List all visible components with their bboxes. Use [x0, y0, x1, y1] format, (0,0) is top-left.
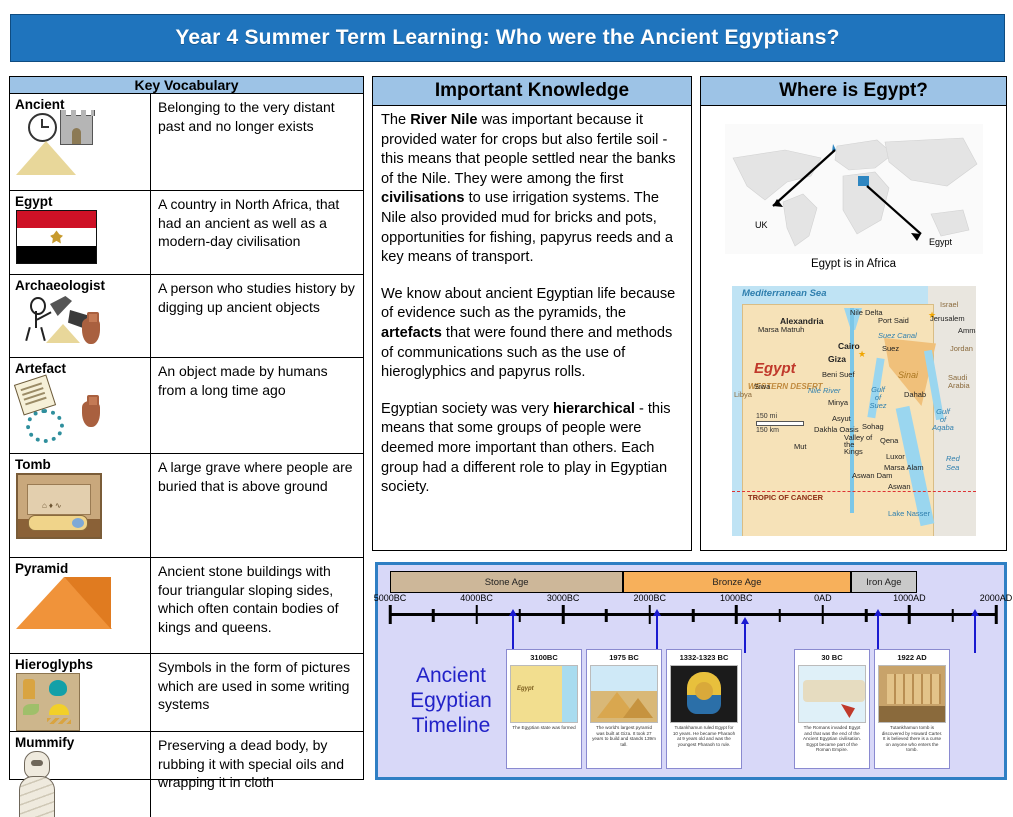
timeline-event-card: 1975 BCThe world's largest pyramid was b…	[586, 649, 662, 769]
timeline-axis-label: 1000AD	[893, 593, 926, 603]
map-label-mediterranean-sea: Mediterranean Sea	[742, 288, 826, 299]
knowledge-key-term: River Nile	[410, 112, 477, 128]
vocabulary-definition-cell: A large grave where people are buried th…	[151, 454, 363, 557]
vocabulary-definition-cell: Preserving a dead body, by rubbing it wi…	[151, 732, 363, 817]
scroll-pot-necklace-icon	[16, 377, 111, 437]
page-banner: Year 4 Summer Term Learning: Who were th…	[10, 14, 1005, 62]
roman-empire-map-image	[798, 665, 866, 723]
tutankhamun-mask-image	[670, 665, 738, 723]
map-label-valley-of-the-kings: Valley of the Kings	[844, 434, 874, 455]
knowledge-key-term: hierarchical	[553, 401, 635, 417]
vocabulary-term-label: Mummify	[15, 735, 150, 750]
timeline-event-card: 30 BCThe Romans invaded Egypt and that w…	[794, 649, 870, 769]
timeline-axis-label: 4000BC	[460, 593, 493, 603]
world-map-label-egypt: Egypt	[929, 237, 952, 247]
knowledge-paragraph: We know about ancient Egyptian life beca…	[381, 285, 684, 383]
map-label-egypt: Egypt	[754, 360, 796, 377]
egypt-flag-icon	[16, 210, 97, 264]
timeline-event-caption: The world's largest pyramid was built at…	[590, 725, 658, 747]
where-header: Where is Egypt?	[700, 76, 1007, 106]
knowledge-text: The	[381, 112, 410, 128]
map-city-qena: Qena	[880, 436, 898, 445]
map-scale-miles: 150 mi	[756, 413, 777, 420]
timeline-axis-label: 2000AD	[980, 593, 1013, 603]
giza-pyramids-image	[590, 665, 658, 723]
knowledge-text: We know about ancient Egyptian life beca…	[381, 286, 675, 322]
timeline-event-caption: Tutankhamun ruled Egypt for 10 years. He…	[670, 725, 738, 747]
timeline-event-card: 1332-1323 BCTutankhamun ruled Egypt for …	[666, 649, 742, 769]
map-country-saudi-arabia: Saudi Arabia	[948, 374, 976, 390]
timeline-title: Ancient Egyptian Timeline	[396, 663, 506, 738]
vocabulary-row: PyramidAncient stone buildings with four…	[10, 558, 363, 654]
vocabulary-term-label: Artefact	[15, 361, 150, 376]
map-city-sohag: Sohag	[862, 422, 884, 431]
timeline-axis-label: 2000BC	[633, 593, 666, 603]
knowledge-paragraph: The River Nile was important because it …	[381, 111, 684, 268]
timeline-event-date: 3100BC	[510, 653, 578, 662]
timeline-event-date: 30 BC	[798, 653, 866, 662]
map-country-israel: Israel	[940, 300, 958, 309]
vocabulary-term-cell: Ancient	[10, 94, 151, 190]
timeline-panel: Stone AgeBronze AgeIron Age 5000BC4000BC…	[375, 562, 1007, 780]
map-city-luxor: Luxor	[886, 452, 905, 461]
timeline-event-caption: Tutankhamun tomb is discovered by Howard…	[878, 725, 946, 753]
timeline-event-caption: The Egyptian state was formed	[510, 725, 578, 731]
map-scale-rule	[756, 421, 804, 426]
timeline-event-arrow	[656, 615, 658, 653]
knowledge-key-term: civilisations	[381, 190, 465, 206]
timeline-event-cards: 3100BCEgyptThe Egyptian state was formed…	[506, 649, 996, 773]
vocabulary-row: AncientBelonging to the very distant pas…	[10, 94, 363, 191]
map-label-red-sea: Red Sea	[946, 454, 964, 472]
vocabulary-term-cell: Artefact	[10, 358, 151, 453]
map-city-marsa-matruh: Marsa Matruh	[758, 326, 804, 334]
map-label-tropic-of-cancer: TROPIC OF CANCER	[748, 494, 823, 502]
map-city-mut: Mut	[794, 442, 807, 451]
knowledge-key-term: artefacts	[381, 325, 442, 341]
map-label-suez-canal: Suez Canal	[878, 331, 917, 340]
map-country-jordan: Jordan	[950, 344, 973, 353]
vocabulary-definition-cell: A country in North Africa, that had an a…	[151, 191, 363, 274]
vocabulary-definition-cell: Symbols in the form of pictures which ar…	[151, 654, 363, 731]
map-city-siwa: Siwa	[754, 382, 770, 391]
egypt-map-image: Egypt	[510, 665, 578, 723]
mummy-icon	[16, 751, 56, 817]
map-city-port-said: Port Said	[878, 316, 909, 325]
map-label-lake-nasser: Lake Nasser	[888, 510, 930, 518]
hieroglyph-tablet-icon	[16, 673, 80, 731]
tomb-discovery-image	[878, 665, 946, 723]
tomb-sarcophagus-icon: ⌂♦∿	[16, 473, 102, 539]
where-is-egypt-panel: Where is Egypt? UK	[700, 76, 1007, 551]
timeline-era-iron: Iron Age	[851, 571, 918, 593]
map-label-gulf-of-aqaba: Gulf of Aqaba	[932, 408, 954, 432]
vocabulary-term-cell: Tomb⌂♦∿	[10, 454, 151, 557]
vocabulary-definition-cell: Ancient stone buildings with four triang…	[151, 558, 363, 653]
timeline-event-card: 3100BCEgyptThe Egyptian state was formed	[506, 649, 582, 769]
vocabulary-definition-cell: Belonging to the very distant past and n…	[151, 94, 363, 190]
where-body: UK Egypt Egypt is in Africa Mediterranea…	[700, 106, 1007, 551]
map-label-aswan-dam: Aswan Dam	[852, 472, 892, 480]
timeline-era-stone: Stone Age	[390, 571, 623, 593]
map-city-dahab: Dahab	[904, 390, 926, 399]
knowledge-header: Important Knowledge	[372, 76, 692, 106]
world-map-image: UK Egypt	[725, 124, 983, 254]
map-city-giza: Giza	[828, 354, 846, 364]
vocabulary-row: Tomb⌂♦∿A large grave where people are bu…	[10, 454, 363, 558]
timeline-event-date: 1975 BC	[590, 653, 658, 662]
map-city-aswan: Aswan	[888, 482, 911, 491]
important-knowledge-panel: Important Knowledge The River Nile was i…	[372, 76, 692, 551]
timeline-axis-label: 5000BC	[374, 593, 407, 603]
vocabulary-row: HieroglyphsSymbols in the form of pictur…	[10, 654, 363, 732]
egypt-detail-map: Mediterranean Sea Egypt WESTERN DESERT T…	[732, 286, 976, 536]
key-vocabulary-table: Key Vocabulary AncientBelonging to the v…	[9, 76, 364, 780]
vocabulary-term-cell: Egypt	[10, 191, 151, 274]
knowledge-body: The River Nile was important because it …	[372, 106, 692, 551]
vocabulary-row: ArtefactAn object made by humans from a …	[10, 358, 363, 454]
vocabulary-row: MummifyPreserving a dead body, by rubbin…	[10, 732, 363, 817]
page-title: Year 4 Summer Term Learning: Who were th…	[175, 26, 839, 50]
timeline-axis-labels: 5000BC4000BC3000BC2000BC1000BC0AD1000AD2…	[390, 593, 996, 606]
map-city-amman: Amman	[958, 326, 976, 335]
timeline-era-bars: Stone AgeBronze AgeIron Age	[390, 571, 996, 593]
vocabulary-term-cell: Pyramid	[10, 558, 151, 653]
map-city-asyut: Asyut	[832, 414, 851, 423]
map-city-minya: Minya	[828, 398, 848, 407]
archaeologist-digging-icon	[16, 294, 111, 352]
map-scale-km: 150 km	[756, 427, 779, 434]
map-nile-river-line	[850, 308, 854, 513]
vocabulary-row: EgyptA country in North Africa, that had…	[10, 191, 363, 275]
vocabulary-header: Key Vocabulary	[10, 77, 363, 94]
vocabulary-term-cell: Hieroglyphs	[10, 654, 151, 731]
vocabulary-term-label: Egypt	[15, 194, 150, 209]
map-label-nile-river: Nile River	[808, 386, 841, 395]
vocabulary-term-label: Archaeologist	[15, 278, 150, 293]
timeline-axis-label: 1000BC	[720, 593, 753, 603]
map-scale-bar: 150 mi 150 km	[756, 412, 804, 435]
timeline-event-arrow	[877, 615, 879, 653]
timeline-event-date: 1332-1323 BC	[670, 653, 738, 662]
timeline-event-arrow	[512, 615, 514, 653]
map-tropic-of-cancer-line	[732, 491, 976, 492]
timeline-event-card: 1922 ADTutankhamun tomb is discovered by…	[874, 649, 950, 769]
vocabulary-definition-cell: An object made by humans from a long tim…	[151, 358, 363, 453]
timeline-event-arrow	[974, 615, 976, 653]
vocabulary-term-cell: Mummify	[10, 732, 151, 817]
clock-castle-pyramid-icon	[16, 113, 111, 175]
orange-pyramid-icon	[16, 577, 112, 629]
map-label-gulf-of-suez: Gulf of Suez	[868, 386, 888, 410]
vocabulary-definition-cell: A person who studies history by digging …	[151, 275, 363, 357]
knowledge-text: Egyptian society was very	[381, 401, 553, 417]
map-label-sinai: Sinai	[898, 370, 918, 380]
map-city-jerusalem: Jerusalem	[930, 314, 965, 323]
timeline-axis-label: 3000BC	[547, 593, 580, 603]
vocabulary-row: ArchaeologistA person who studies histor…	[10, 275, 363, 358]
timeline-axis-label: 0AD	[814, 593, 832, 603]
vocabulary-term-label: Hieroglyphs	[15, 657, 150, 672]
map-city-beni-suef: Beni Suef	[822, 370, 855, 379]
map-country-libya: Libya	[734, 390, 752, 399]
vocabulary-term-cell: Archaeologist	[10, 275, 151, 357]
map-city-suez: Suez	[882, 344, 899, 353]
vocabulary-rows: AncientBelonging to the very distant pas…	[10, 94, 363, 817]
timeline-event-caption: The Romans invaded Egypt and that was th…	[798, 725, 866, 753]
timeline-era-bronze: Bronze Age	[623, 571, 850, 593]
timeline-event-date: 1922 AD	[878, 653, 946, 662]
vocabulary-term-label: Pyramid	[15, 561, 150, 576]
timeline-event-arrows	[390, 613, 996, 653]
map-city-cairo: Cairo	[838, 341, 860, 351]
world-map-label-uk: UK	[755, 220, 768, 230]
vocabulary-term-label: Tomb	[15, 457, 150, 472]
knowledge-paragraph: Egyptian society was very hierarchical -…	[381, 400, 684, 498]
egypt-in-africa-caption: Egypt is in Africa	[701, 258, 1006, 270]
